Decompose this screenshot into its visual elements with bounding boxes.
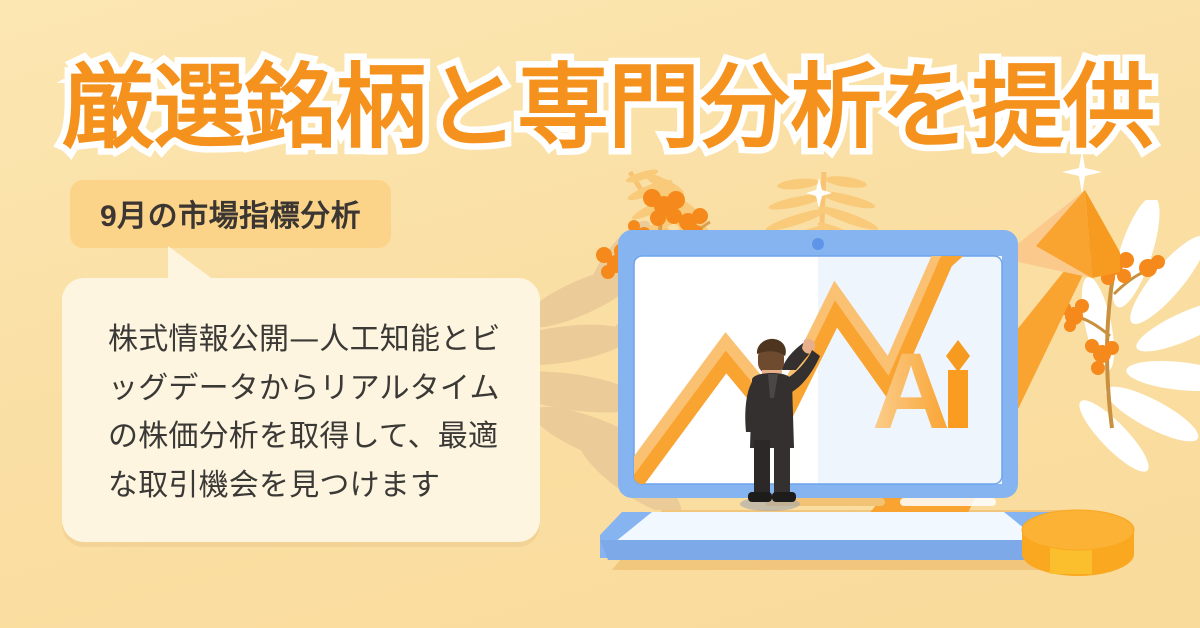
status-badge: 9月の市場指標分析 bbox=[70, 180, 391, 248]
banner-root: A 厳選銘柄と専門分析を提 bbox=[0, 0, 1200, 628]
laptop-shadow bbox=[600, 498, 1120, 578]
businessman-figure-icon bbox=[722, 336, 832, 511]
rising-arrow-chart-icon bbox=[800, 150, 1120, 550]
speech-bubble-tail bbox=[168, 246, 214, 280]
palm-leaf-icon bbox=[520, 180, 780, 510]
palm-leaf-icon bbox=[1040, 200, 1200, 490]
ai-logo-icon: A bbox=[872, 332, 992, 444]
laptop-icon bbox=[600, 230, 1080, 560]
palm-leaf-icon bbox=[620, 150, 920, 280]
rising-arrow-chart-icon bbox=[600, 230, 1080, 530]
berry-branch-icon bbox=[1052, 232, 1182, 432]
svg-text:A: A bbox=[872, 332, 950, 444]
sparkle-icon bbox=[1082, 238, 1110, 272]
body-text: 株式情報公開—人工知能とビッグデータからリアルタイムの株価分析を取得して、最適な… bbox=[108, 316, 520, 510]
gold-coin-icon bbox=[1018, 508, 1138, 580]
berry-branch-icon bbox=[588, 172, 728, 392]
sparkle-icon bbox=[806, 178, 832, 208]
page-title: 厳選銘柄と専門分析を提供 bbox=[62, 52, 1142, 164]
